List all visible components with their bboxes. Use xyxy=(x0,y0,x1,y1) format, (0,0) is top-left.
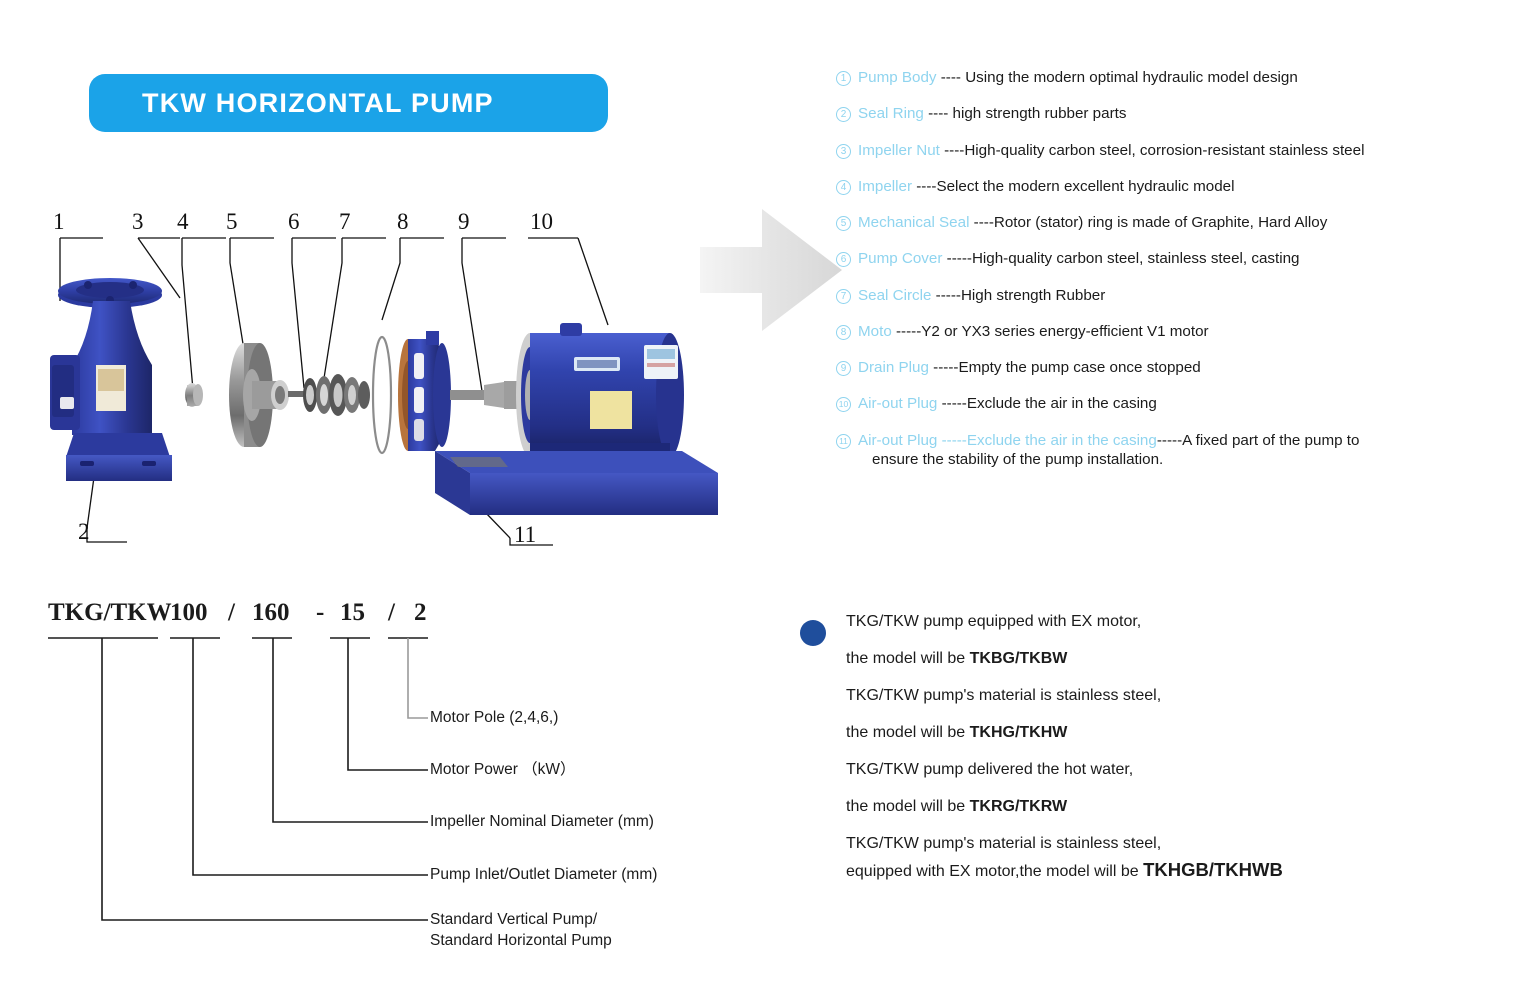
parts-legend: 1 Pump Body ---- Using the modern optima… xyxy=(836,68,1506,487)
note-line-1: TKG/TKW pump equipped with EX motor, xyxy=(846,612,1400,632)
page-root: TKW HORIZONTAL PUMP xyxy=(0,0,1513,1000)
model-desc-pump-type-line2: Standard Horizontal Pump xyxy=(430,931,612,952)
page-title: TKW HORIZONTAL PUMP xyxy=(89,88,494,119)
legend-part-name: Seal Circle xyxy=(858,287,931,304)
callout-number-10: 10 xyxy=(530,210,553,233)
pump-illustration xyxy=(30,205,720,575)
seal-circle-graphic xyxy=(373,337,391,453)
pump-body-graphic xyxy=(50,278,172,481)
model-token-slash-2: / xyxy=(388,600,395,625)
legend-description: Using the modern optimal hydraulic model… xyxy=(965,69,1298,86)
model-desc-motor-power: Motor Power （kW） xyxy=(430,760,576,781)
legend-item-3: 3 Impeller Nut ----High-quality carbon s… xyxy=(836,141,1506,161)
model-token-power: 15 xyxy=(340,600,365,625)
note-line-2: the model will be TKBG/TKBW xyxy=(846,649,1400,669)
callout-number-8: 8 xyxy=(397,210,409,233)
circled-number-icon: 2 xyxy=(836,107,851,122)
callout-number-7: 7 xyxy=(339,210,351,233)
legend-description: High-quality carbon steel, stainless ste… xyxy=(972,250,1300,267)
note-prefix: the model will be xyxy=(846,650,970,667)
exploded-pump-figure: 1 3 4 5 6 7 8 9 10 2 11 xyxy=(30,205,720,575)
model-token-pole: 2 xyxy=(414,600,427,625)
model-token-dash: - xyxy=(316,600,324,625)
impeller-graphic xyxy=(229,343,289,447)
legend-description: Empty the pump case once stopped xyxy=(958,359,1200,376)
motor-graphic xyxy=(516,323,684,457)
legend-item-5: 5 Mechanical Seal ----Rotor (stator) rin… xyxy=(836,213,1506,233)
circled-number-icon: 5 xyxy=(836,216,851,231)
model-token-series: TKG/TKW xyxy=(48,600,172,625)
page-title-banner: TKW HORIZONTAL PUMP xyxy=(89,74,608,132)
legend-separator: ----- xyxy=(937,432,967,449)
legend-item-11: 11 Air-out Plug -----Exclude the air in … xyxy=(836,431,1506,471)
legend-item-6: 6 Pump Cover -----High-quality carbon st… xyxy=(836,249,1506,269)
legend-description: Exclude the air in the casing xyxy=(967,395,1157,412)
callout-number-4: 4 xyxy=(177,210,189,233)
legend-description: High strength Rubber xyxy=(961,287,1105,304)
note-line-6: the model will be TKRG/TKRW xyxy=(846,797,1400,817)
note-line-8: equipped with EX motor,the model will be… xyxy=(846,858,1400,882)
legend-separator: ----- xyxy=(931,287,961,304)
callout-number-9: 9 xyxy=(458,210,470,233)
legend-description: -----A fixed part of the pump to xyxy=(1157,432,1360,449)
legend-part-name: Seal Ring xyxy=(858,105,924,122)
legend-item-8: 8 Moto -----Y2 or YX3 series energy-effi… xyxy=(836,322,1506,342)
base-plate-graphic xyxy=(435,451,718,515)
legend-part-name: Pump Body xyxy=(858,69,937,86)
circled-number-icon: 8 xyxy=(836,325,851,340)
note-model-code: TKHG/TKHW xyxy=(970,724,1068,741)
legend-item-10: 10 Air-out Plug -----Exclude the air in … xyxy=(836,394,1506,414)
circled-number-icon: 1 xyxy=(836,71,851,86)
legend-separator: ---- xyxy=(969,214,993,231)
callout-number-6: 6 xyxy=(288,210,300,233)
drain-plug-shaft-graphic xyxy=(450,381,526,409)
note-prefix: the model will be xyxy=(846,798,970,815)
circled-number-icon: 10 xyxy=(836,397,851,412)
legend-separator: ---- xyxy=(912,178,936,195)
circled-number-icon: 3 xyxy=(836,144,851,159)
legend-part-name: Impeller xyxy=(858,178,912,195)
legend-part-name: Moto xyxy=(858,323,892,340)
note-line-3: TKG/TKW pump's material is stainless ste… xyxy=(846,686,1400,706)
model-code-diagram: TKG/TKW 100 / 160 - 15 / 2 Motor Pole (2… xyxy=(30,598,730,973)
legend-item-1: 1 Pump Body ---- Using the modern optima… xyxy=(836,68,1506,88)
callout-number-5: 5 xyxy=(226,210,238,233)
note-line-7: TKG/TKW pump's material is stainless ste… xyxy=(846,834,1400,854)
pump-cover-graphic xyxy=(398,331,451,451)
legend-separator: ----- xyxy=(942,250,972,267)
legend-part-name: Air-out Plug xyxy=(858,395,937,412)
impeller-nut-graphic xyxy=(185,383,203,407)
note-prefix: equipped with EX motor,the model will be xyxy=(846,863,1143,880)
model-desc-impeller-dia: Impeller Nominal Diameter (mm) xyxy=(430,812,654,833)
callout-number-1: 1 xyxy=(53,210,65,233)
legend-separator: ---- xyxy=(924,105,953,122)
circled-number-icon: 4 xyxy=(836,180,851,195)
legend-description: Y2 or YX3 series energy-efficient V1 mot… xyxy=(921,323,1208,340)
mechanical-seal-graphic xyxy=(288,374,370,416)
legend-separator: ----- xyxy=(892,323,922,340)
legend-separator: ---- xyxy=(940,142,964,159)
legend-item-4: 4 Impeller ----Select the modern excelle… xyxy=(836,177,1506,197)
legend-part-name: Impeller Nut xyxy=(858,142,940,159)
circled-number-icon: 9 xyxy=(836,361,851,376)
legend-part-name: Air-out Plug xyxy=(858,432,937,449)
legend-part-name: Drain Plug xyxy=(858,359,929,376)
legend-item-2: 2 Seal Ring ---- high strength rubber pa… xyxy=(836,104,1506,124)
model-code-leader-lines xyxy=(30,598,730,973)
circled-number-icon: 6 xyxy=(836,252,851,267)
note-prefix: the model will be xyxy=(846,724,970,741)
note-line-5: TKG/TKW pump delivered the hot water, xyxy=(846,760,1400,780)
model-desc-motor-pole: Motor Pole (2,4,6,) xyxy=(430,708,558,729)
legend-separator: ----- xyxy=(929,359,959,376)
note-model-code: TKHGB/TKHWB xyxy=(1143,859,1283,880)
legend-part-name: Mechanical Seal xyxy=(858,214,969,231)
callout-number-11: 11 xyxy=(514,523,536,546)
legend-description: High-quality carbon steel, corrosion-res… xyxy=(964,142,1364,159)
bullet-icon xyxy=(800,620,826,646)
model-token-inlet: 100 xyxy=(170,600,208,625)
callout-number-3: 3 xyxy=(132,210,144,233)
legend-description: Rotor (stator) ring is made of Graphite,… xyxy=(994,214,1327,231)
legend-item-9: 9 Drain Plug -----Empty the pump case on… xyxy=(836,358,1506,378)
model-variant-notes: TKG/TKW pump equipped with EX motor, the… xyxy=(800,612,1400,899)
flow-arrow xyxy=(700,205,845,335)
legend-separator: ---- xyxy=(937,69,966,86)
circled-number-icon: 11 xyxy=(836,434,851,449)
legend-part-name: Pump Cover xyxy=(858,250,942,267)
legend-description-line2: ensure the stability of the pump install… xyxy=(858,450,1359,470)
model-token-impeller: 160 xyxy=(252,600,290,625)
circled-number-icon: 7 xyxy=(836,289,851,304)
legend-item-7: 7 Seal Circle -----High strength Rubber xyxy=(836,286,1506,306)
legend-separator: ----- xyxy=(937,395,967,412)
legend-description: high strength rubber parts xyxy=(953,105,1127,122)
note-model-code: TKRG/TKRW xyxy=(970,798,1067,815)
note-model-code: TKBG/TKBW xyxy=(970,650,1068,667)
note-line-4: the model will be TKHG/TKHW xyxy=(846,723,1400,743)
legend-description: Select the modern excellent hydraulic mo… xyxy=(936,178,1234,195)
legend-description-light: Exclude the air in the casing xyxy=(967,432,1157,449)
callout-number-2: 2 xyxy=(78,520,90,543)
model-token-slash-1: / xyxy=(228,600,235,625)
model-desc-inlet-dia: Pump Inlet/Outlet Diameter (mm) xyxy=(430,865,657,886)
model-desc-pump-type-line1: Standard Vertical Pump/ xyxy=(430,910,597,931)
